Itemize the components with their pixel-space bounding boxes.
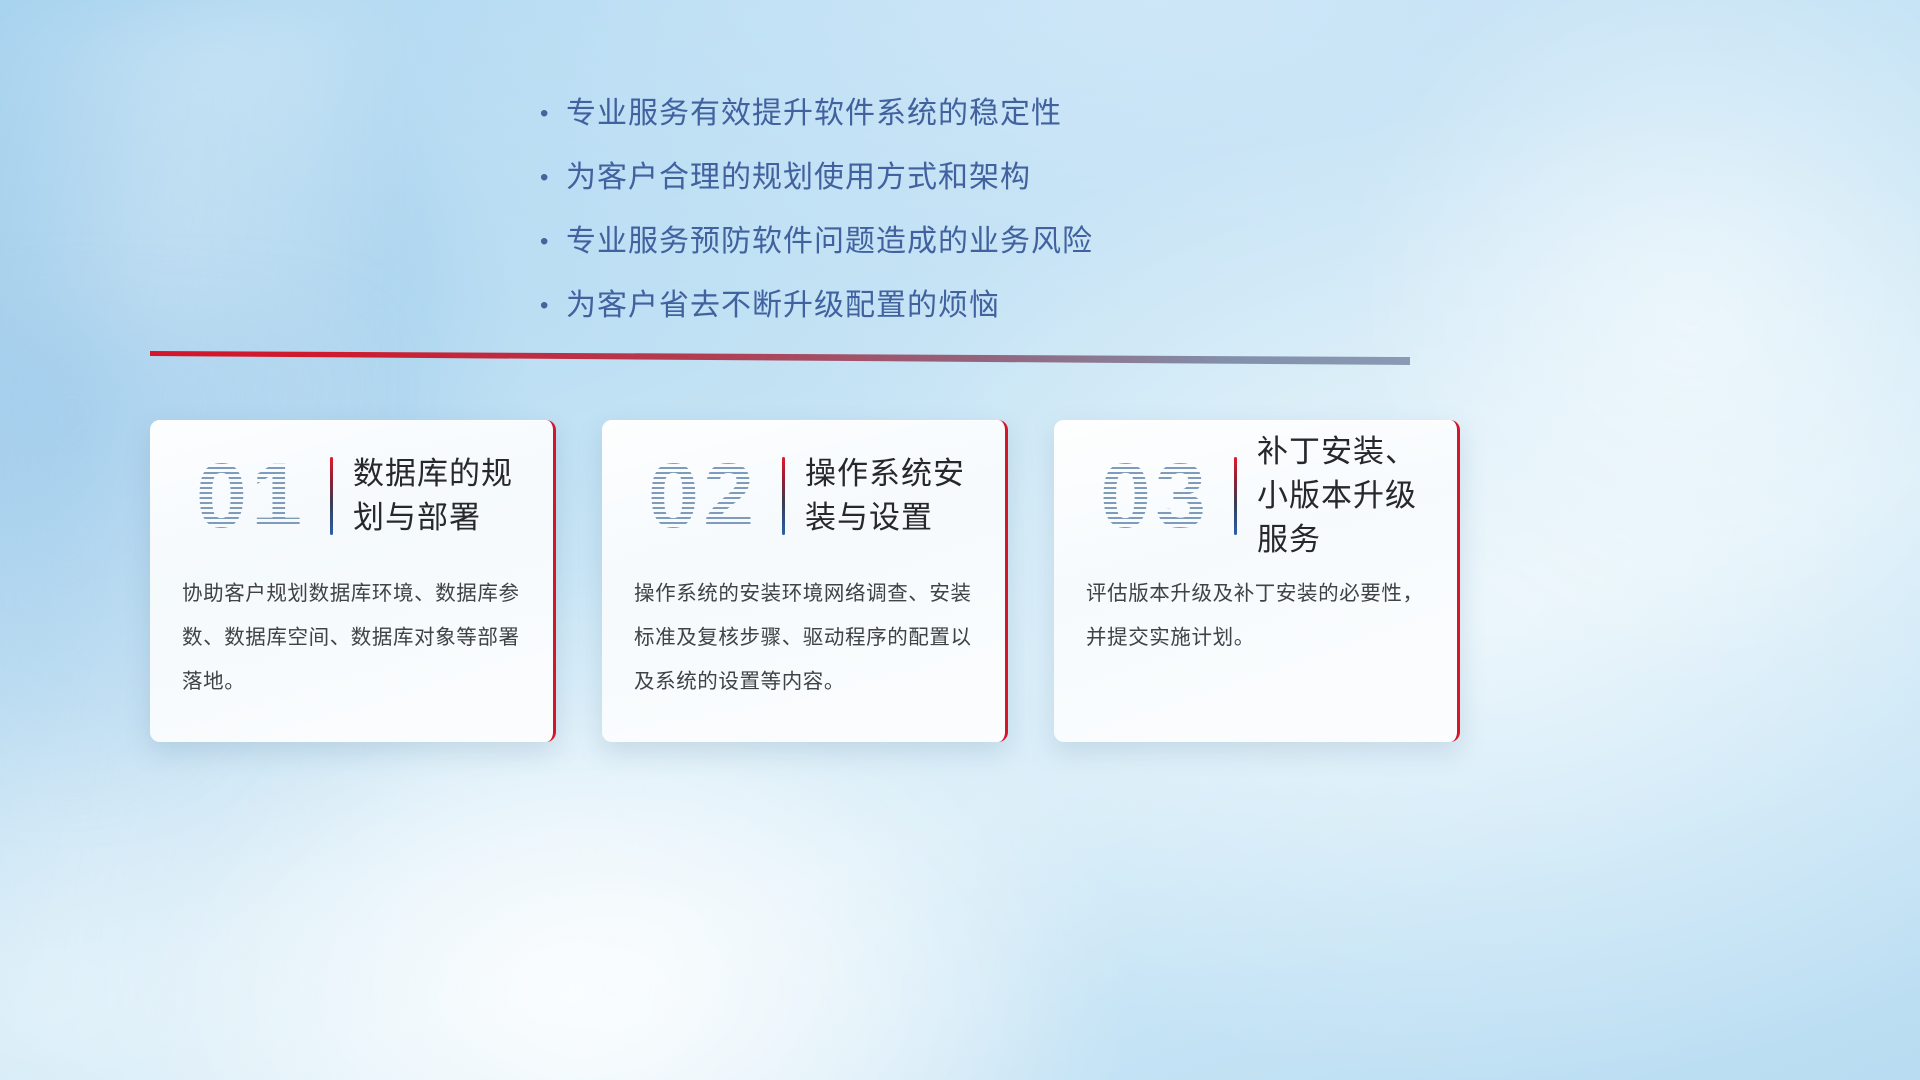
slide-canvas: • 专业服务有效提升软件系统的稳定性 • 为客户合理的规划使用方式和架构 • 专… xyxy=(0,0,1920,1080)
service-card-group: 01 数据库的规划与部署 协助客户规划数据库环境、数据库参数、数据库空间、数据库… xyxy=(150,420,1460,745)
card-header: 01 数据库的规划与部署 xyxy=(150,420,553,572)
bullet-dot-icon: • xyxy=(530,88,566,140)
card-number: 02 xyxy=(628,442,778,550)
service-card[interactable]: 03 补丁安装、小版本升级服务 评估版本升级及补丁安装的必要性，并提交实施计划。 xyxy=(1054,420,1460,742)
benefits-bullet-list: • 专业服务有效提升软件系统的稳定性 • 为客户合理的规划使用方式和架构 • 专… xyxy=(530,88,1290,344)
section-divider xyxy=(150,345,1410,369)
card-title: 数据库的规划与部署 xyxy=(353,452,531,540)
bullet-text: 专业服务预防软件问题造成的业务风险 xyxy=(566,216,1093,268)
bullet-dot-icon: • xyxy=(530,280,566,332)
bullet-dot-icon: • xyxy=(530,216,566,268)
card-number: 01 xyxy=(176,442,326,550)
service-card[interactable]: 01 数据库的规划与部署 协助客户规划数据库环境、数据库参数、数据库空间、数据库… xyxy=(150,420,556,742)
card-header: 03 补丁安装、小版本升级服务 xyxy=(1054,420,1457,572)
card-title: 操作系统安装与设置 xyxy=(805,452,983,540)
list-item: • 专业服务预防软件问题造成的业务风险 xyxy=(530,216,1290,280)
bullet-dot-icon: • xyxy=(530,152,566,204)
card-body-text: 操作系统的安装环境网络调查、安装标准及复核步骤、驱动程序的配置以及系统的设置等内… xyxy=(602,572,1005,704)
card-accent-divider xyxy=(782,457,785,535)
bullet-text: 为客户合理的规划使用方式和架构 xyxy=(566,152,1031,204)
card-accent-divider xyxy=(1234,457,1237,535)
list-item: • 为客户合理的规划使用方式和架构 xyxy=(530,152,1290,216)
card-body-text: 协助客户规划数据库环境、数据库参数、数据库空间、数据库对象等部署落地。 xyxy=(150,572,553,704)
card-header: 02 操作系统安装与设置 xyxy=(602,420,1005,572)
bullet-text: 专业服务有效提升软件系统的稳定性 xyxy=(566,88,1062,140)
card-body-text: 评估版本升级及补丁安装的必要性，并提交实施计划。 xyxy=(1054,572,1457,660)
card-title: 补丁安装、小版本升级服务 xyxy=(1257,430,1435,562)
service-card[interactable]: 02 操作系统安装与设置 操作系统的安装环境网络调查、安装标准及复核步骤、驱动程… xyxy=(602,420,1008,742)
list-item: • 专业服务有效提升软件系统的稳定性 xyxy=(530,88,1290,152)
list-item: • 为客户省去不断升级配置的烦恼 xyxy=(530,280,1290,344)
card-number: 03 xyxy=(1080,442,1230,550)
bullet-text: 为客户省去不断升级配置的烦恼 xyxy=(566,280,1000,332)
card-accent-divider xyxy=(330,457,333,535)
